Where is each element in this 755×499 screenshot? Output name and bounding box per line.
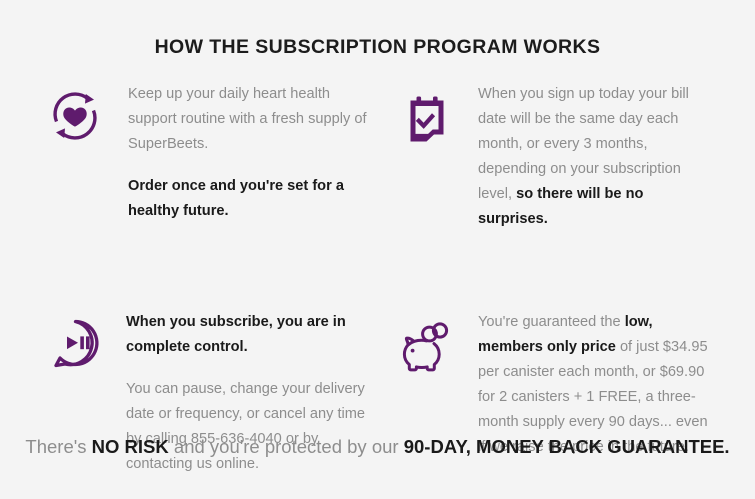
feature-paragraph: You can pause, change your delivery date… — [126, 377, 366, 477]
page-title: HOW THE SUBSCRIPTION PROGRAM WORKS — [0, 36, 755, 59]
plain-text: When you sign up today your bill date wi… — [478, 86, 689, 202]
emphasis-text: Order once and you're set for a healthy … — [128, 178, 344, 219]
feature-item-auto-refill: Keep up your daily heart health support … — [0, 82, 378, 232]
feature-text: When you sign up today your bill date wi… — [478, 82, 710, 232]
piggy-bank-icon — [396, 314, 458, 376]
feature-row: Keep up your daily heart health support … — [0, 82, 755, 232]
feature-item-billing-date: When you sign up today your bill date wi… — [378, 82, 755, 232]
plain-text: There's — [25, 436, 91, 457]
emphasis-text: NO RISK — [92, 436, 169, 457]
feature-text: Keep up your daily heart health support … — [128, 82, 368, 232]
guarantee-statement: There's NO RISK and you're protected by … — [0, 432, 755, 462]
feature-grid: Keep up your daily heart health support … — [0, 82, 755, 477]
emphasis-text: 90-DAY, MONEY BACK GUARANTEE. — [404, 436, 730, 457]
subscription-program-panel: HOW THE SUBSCRIPTION PROGRAM WORKS — [0, 0, 755, 499]
feature-paragraph: When you sign up today your bill date wi… — [478, 82, 710, 232]
feature-paragraph: Keep up your daily heart health support … — [128, 82, 368, 157]
speech-bubble-play-pause-icon — [44, 312, 106, 374]
heart-refresh-icon — [44, 85, 106, 147]
plain-text: and you're protected by our — [169, 436, 404, 457]
plain-text: Keep up your daily heart health support … — [128, 86, 367, 152]
plain-text: You're guaranteed the — [478, 314, 625, 330]
feature-paragraph: Order once and you're set for a healthy … — [128, 174, 368, 224]
emphasis-text: When you subscribe, you are in complete … — [126, 314, 346, 355]
calendar-check-icon — [396, 85, 458, 147]
feature-paragraph: When you subscribe, you are in complete … — [126, 310, 366, 360]
guarantee-text: There's NO RISK and you're protected by … — [25, 436, 729, 457]
